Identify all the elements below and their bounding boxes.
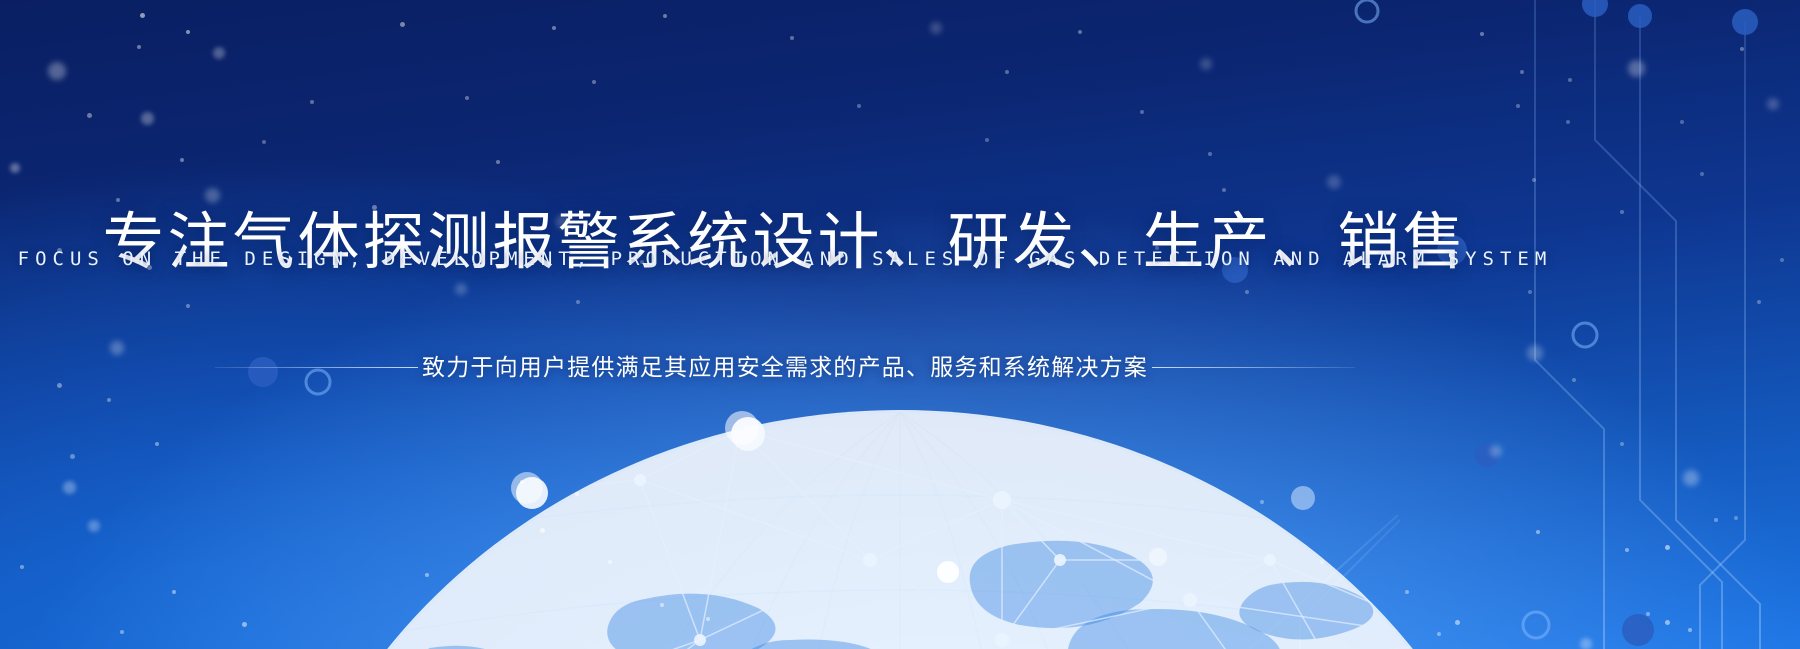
bokeh-particles: [0, 0, 1800, 649]
hero-banner: 专注气体探测报警系统设计、研发、生产、销售 FOCUS ON THE DESIG…: [0, 0, 1800, 649]
